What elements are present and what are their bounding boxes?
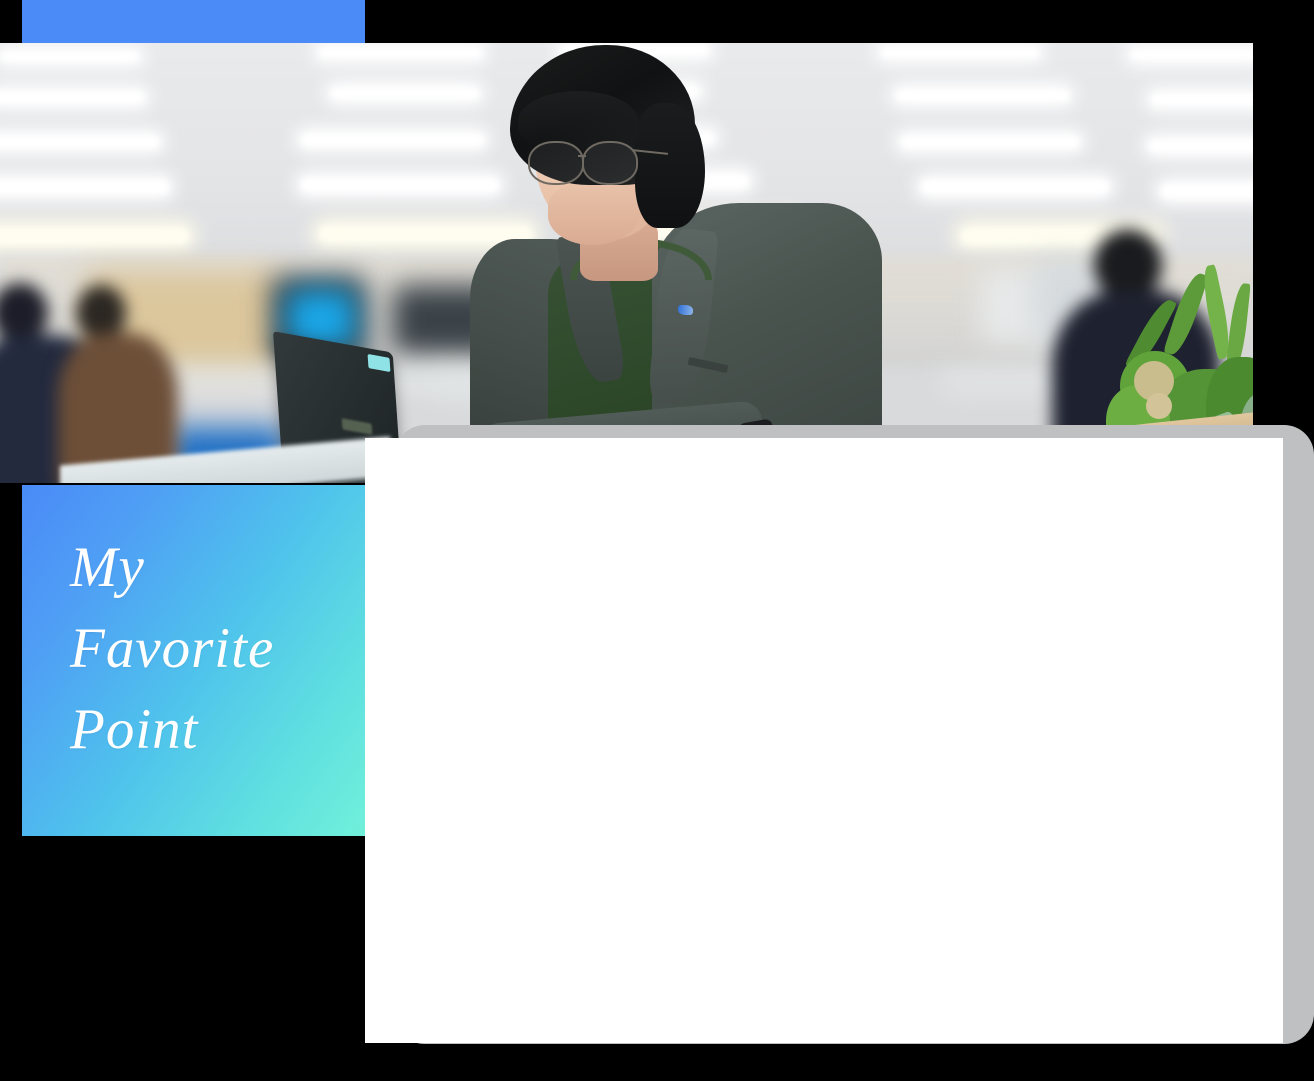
ceiling-light-icon [0,227,190,245]
ceiling-light-icon [1130,49,1253,60]
eyeglasses-bridge [578,155,586,157]
person-subject [430,43,990,483]
ceiling-light-icon [0,179,170,195]
ceiling-light-icon [1150,93,1253,106]
top-left-accent-bar [22,0,365,43]
eyeglasses-lens-right [582,141,638,185]
lapel-pin-icon [678,305,693,315]
ceiling-light-icon [0,51,140,62]
page-stage: My Favorite Point [0,0,1314,1081]
background-person [52,285,192,483]
eyeglasses-lens-left [528,141,584,185]
content-card [365,438,1283,1043]
my-favorite-point-badge: My Favorite Point [22,485,365,836]
ceiling-light-icon [1148,139,1253,153]
ceiling-light-icon [1160,183,1253,199]
ceiling-light-icon [0,135,160,149]
badge-title: My Favorite Point [70,527,350,770]
office-photo [0,43,1253,483]
hair-side [635,103,705,228]
ceiling-light-icon [0,91,145,104]
